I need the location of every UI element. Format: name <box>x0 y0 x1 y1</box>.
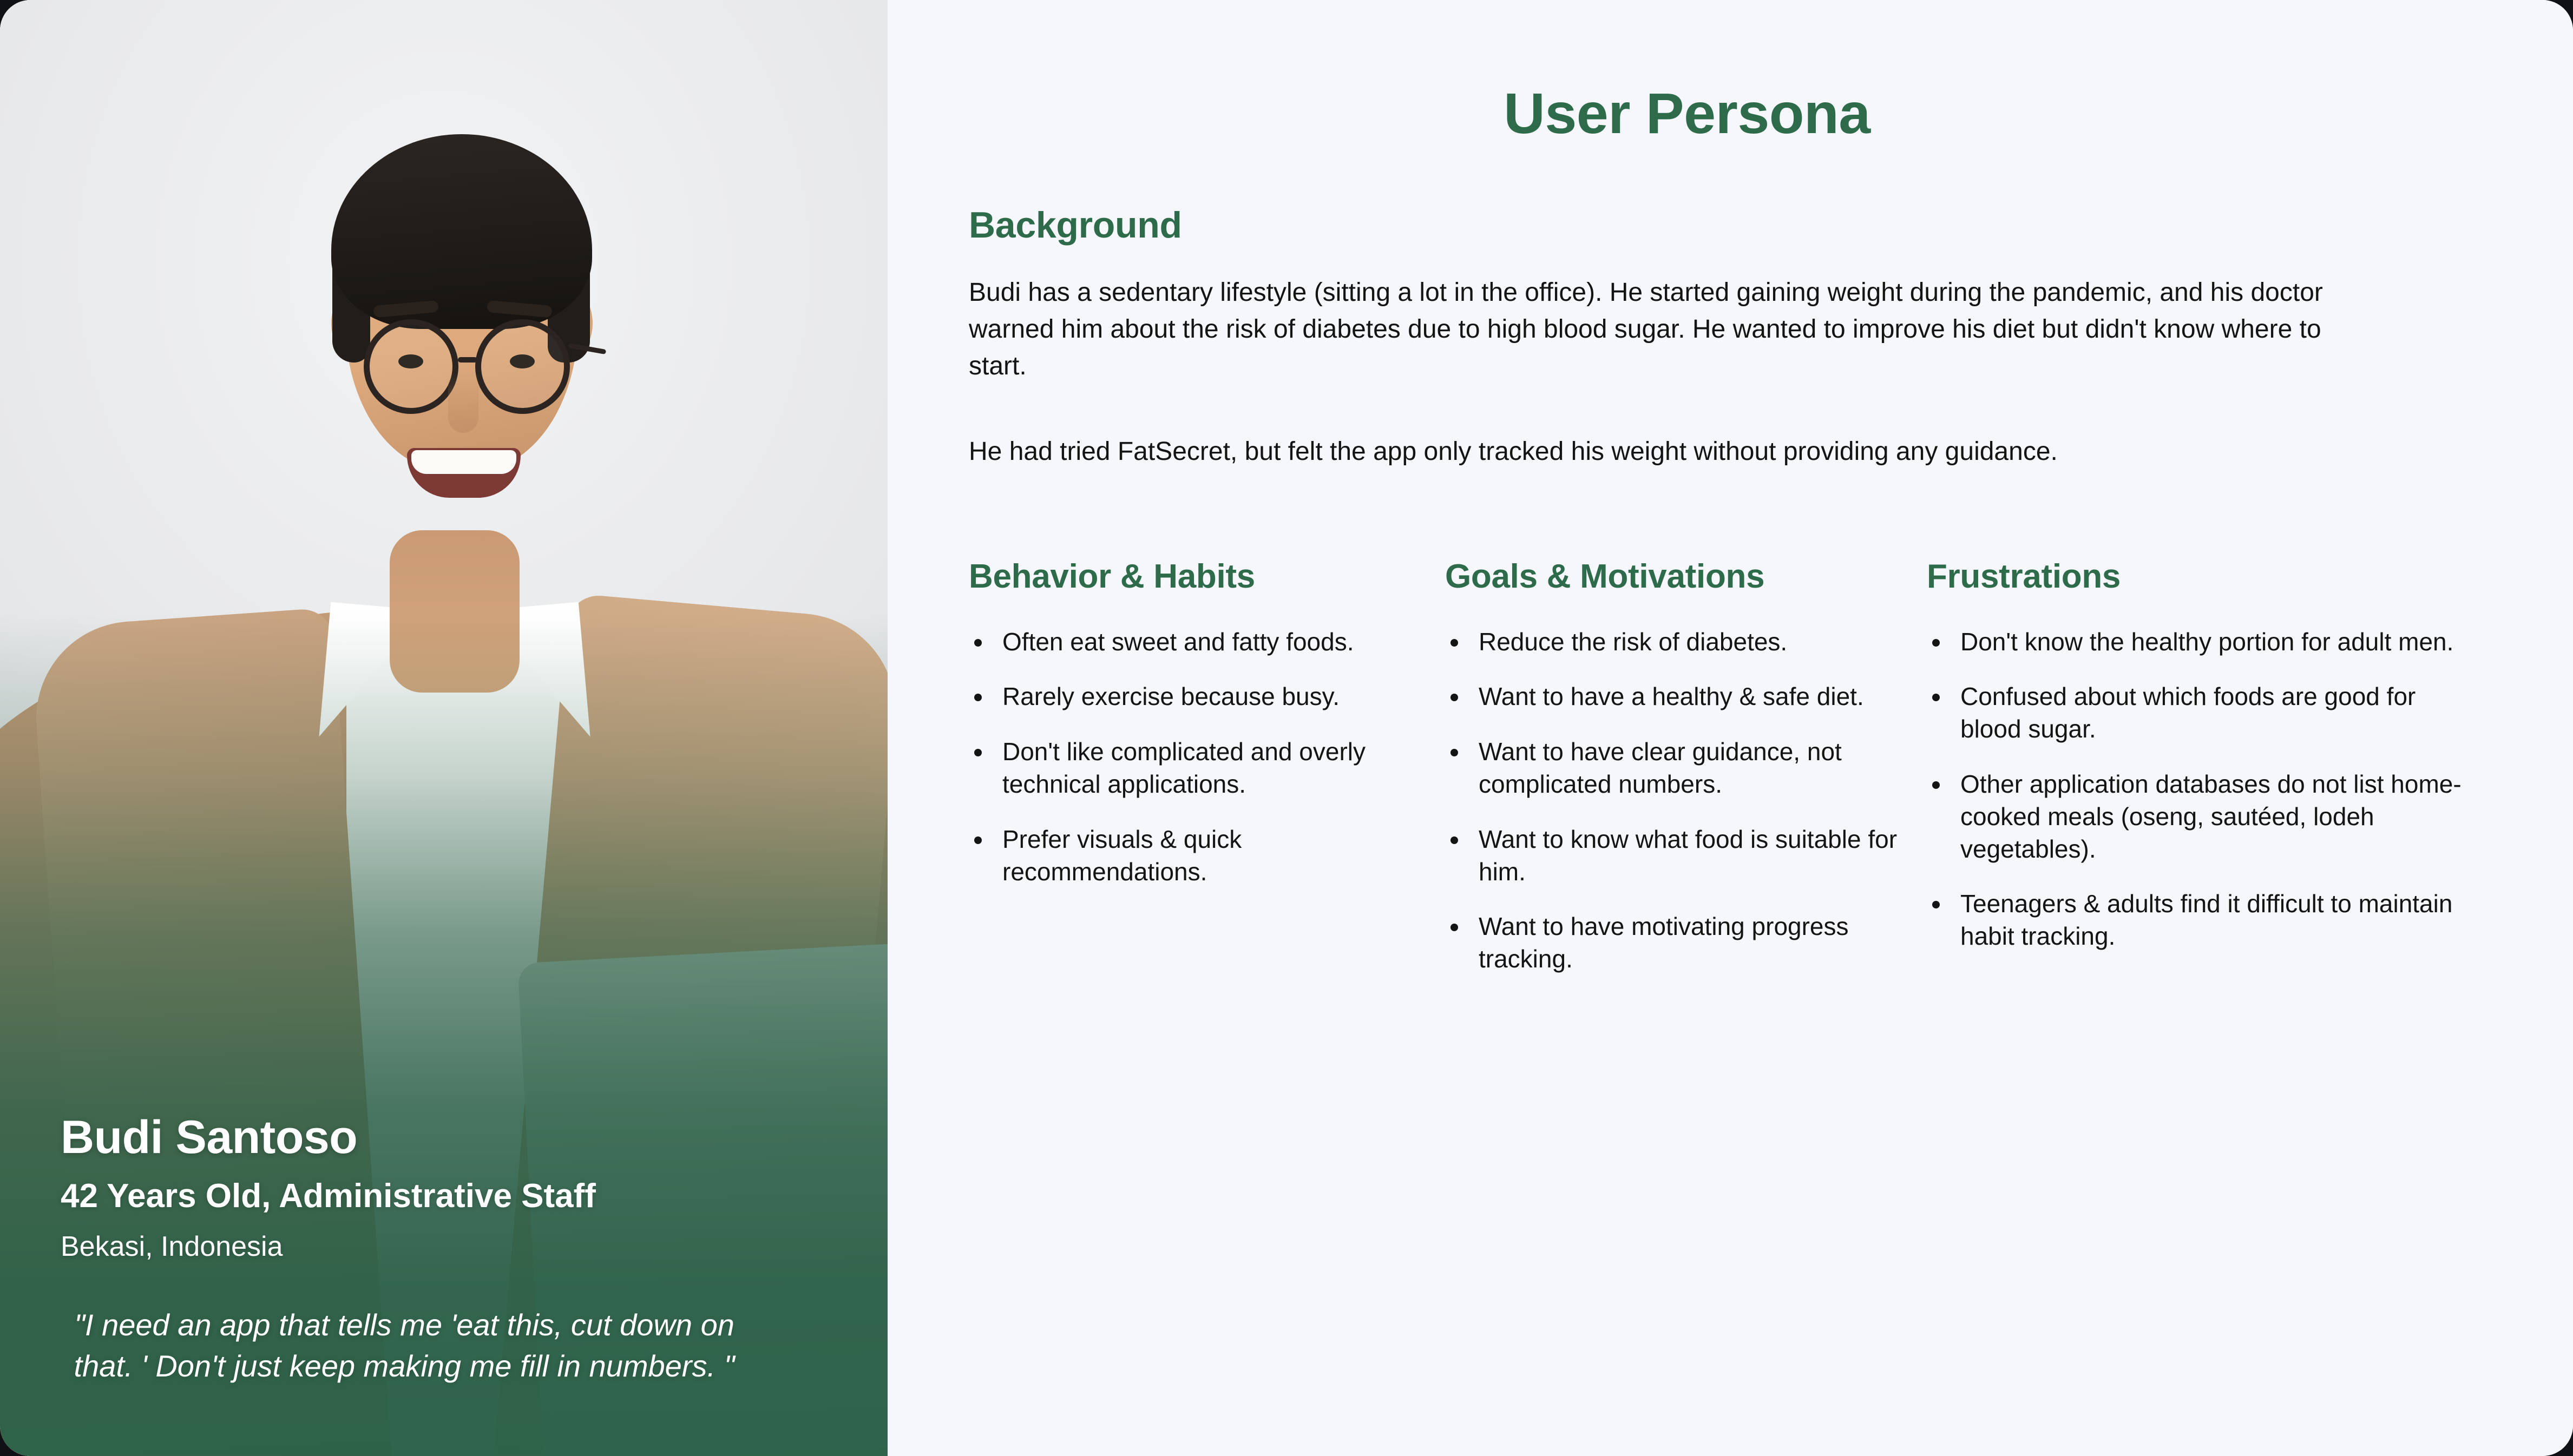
behavior-habits-list: Often eat sweet and fatty foods. Rarely … <box>969 626 1445 888</box>
persona-location: Bekasi, Indonesia <box>61 1231 829 1262</box>
list-item: Reduce the risk of diabetes. <box>1445 626 1927 658</box>
list-item: Want to have motivating progress trackin… <box>1445 911 1927 976</box>
list-item: Don't know the healthy portion for adult… <box>1927 626 2468 658</box>
list-item: Rarely exercise because busy. <box>969 681 1445 713</box>
user-persona-card: Budi Santoso 42 Years Old, Administrativ… <box>0 0 2573 1456</box>
page-title: User Persona <box>969 81 2508 147</box>
column-frustrations: Frustrations Don't know the healthy port… <box>1927 557 2468 998</box>
background-section: Background Budi has a sedentary lifestyl… <box>969 204 2508 471</box>
background-paragraph: He had tried FatSecret, but felt the app… <box>969 433 2376 470</box>
frustrations-list: Don't know the healthy portion for adult… <box>1927 626 2468 953</box>
column-behavior-habits: Behavior & Habits Often eat sweet and fa… <box>969 557 1445 998</box>
persona-role: 42 Years Old, Administrative Staff <box>61 1178 829 1215</box>
list-item: Teenagers & adults find it difficult to … <box>1927 888 2468 953</box>
goals-motivations-list: Reduce the risk of diabetes. Want to hav… <box>1445 626 1927 976</box>
persona-identity-block: Budi Santoso 42 Years Old, Administrativ… <box>61 1113 829 1387</box>
persona-quote: "I need an app that tells me 'eat this, … <box>61 1305 829 1387</box>
list-item: Confused about which foods are good for … <box>1927 681 2468 746</box>
background-paragraph: Budi has a sedentary lifestyle (sitting … <box>969 274 2376 385</box>
list-item: Don't like complicated and overly techni… <box>969 736 1445 801</box>
list-item: Want to have a healthy & safe diet. <box>1445 681 1927 713</box>
background-body: Budi has a sedentary lifestyle (sitting … <box>969 274 2508 471</box>
column-heading: Frustrations <box>1927 557 2468 596</box>
list-item: Prefer visuals & quick recommendations. <box>969 823 1445 888</box>
list-item: Want to have clear guidance, not complic… <box>1445 736 1927 801</box>
persona-photo-panel: Budi Santoso 42 Years Old, Administrativ… <box>0 0 888 1456</box>
column-heading: Goals & Motivations <box>1445 557 1927 596</box>
list-item: Want to know what food is suitable for h… <box>1445 823 1927 888</box>
persona-attribute-columns: Behavior & Habits Often eat sweet and fa… <box>969 557 2508 998</box>
column-heading: Behavior & Habits <box>969 557 1445 596</box>
persona-name: Budi Santoso <box>61 1113 829 1162</box>
column-goals-motivations: Goals & Motivations Reduce the risk of d… <box>1445 557 1927 998</box>
list-item: Often eat sweet and fatty foods. <box>969 626 1445 658</box>
background-heading: Background <box>969 204 2508 246</box>
list-item: Other application databases do not list … <box>1927 768 2468 865</box>
persona-content-panel: User Persona Background Budi has a seden… <box>888 0 2573 1456</box>
